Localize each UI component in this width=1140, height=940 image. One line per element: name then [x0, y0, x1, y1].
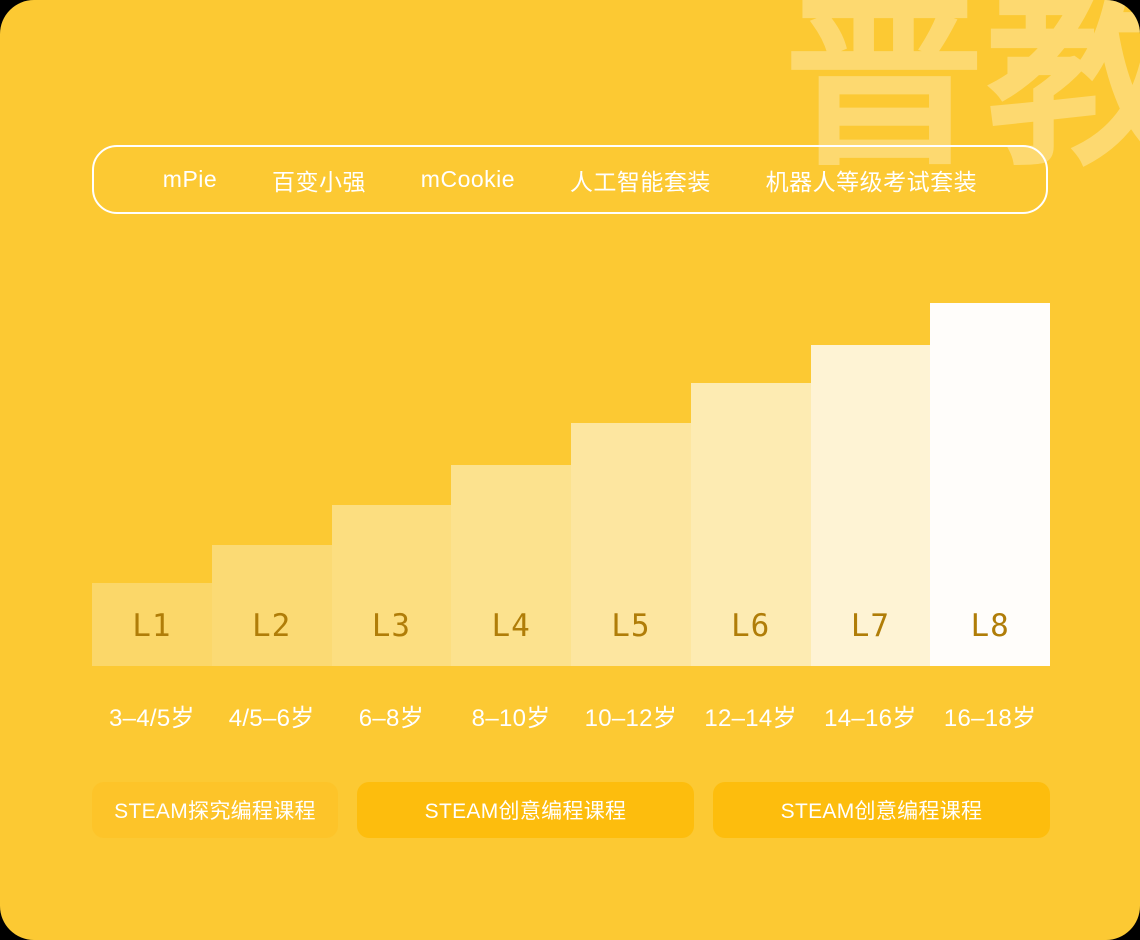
bar-l7[interactable]: L7 [811, 345, 931, 666]
bar-l3[interactable]: L3 [332, 505, 452, 666]
bar-label-l5: L5 [611, 608, 650, 666]
product-item-baibianxiaoqiang[interactable]: 百变小强 [272, 163, 366, 197]
product-item-ai-kit[interactable]: 人工智能套装 [570, 163, 711, 197]
age-label-l1: 3–4/5岁 [92, 698, 212, 733]
bar-label-l7: L7 [851, 608, 890, 666]
course-level-card: 普教 mPie 百变小强 mCookie 人工智能套装 机器人等级考试套装 L1… [0, 0, 1140, 940]
course-pill-creative-1[interactable]: STEAM创意编程课程 [357, 782, 694, 838]
course-pill-creative-2[interactable]: STEAM创意编程课程 [713, 782, 1050, 838]
age-label-l2: 4/5–6岁 [212, 698, 332, 733]
age-label-l7: 14–16岁 [811, 698, 931, 733]
bar-label-l2: L2 [252, 608, 291, 666]
bar-l1[interactable]: L1 [92, 583, 212, 666]
product-item-robot-exam-kit[interactable]: 机器人等级考试套装 [766, 163, 978, 197]
bar-l8[interactable]: L8 [930, 303, 1050, 666]
product-item-mcookie[interactable]: mCookie [421, 166, 515, 193]
age-label-l6: 12–14岁 [691, 698, 811, 733]
bar-l6[interactable]: L6 [691, 383, 811, 666]
bar-label-l8: L8 [970, 608, 1009, 666]
bar-l2[interactable]: L2 [212, 545, 332, 666]
bar-label-l3: L3 [372, 608, 411, 666]
bar-l5[interactable]: L5 [571, 423, 691, 666]
age-label-l5: 10–12岁 [571, 698, 691, 733]
bar-l4[interactable]: L4 [451, 465, 571, 666]
course-track-row: STEAM探究编程课程 STEAM创意编程课程 STEAM创意编程课程 [92, 782, 1050, 838]
bar-label-l4: L4 [491, 608, 530, 666]
level-bar-chart: L1 L2 L3 L4 L5 L6 L7 L8 [92, 290, 1050, 666]
course-pill-explore[interactable]: STEAM探究编程课程 [92, 782, 338, 838]
bar-label-l1: L1 [132, 608, 171, 666]
product-series-bar: mPie 百变小强 mCookie 人工智能套装 机器人等级考试套装 [92, 145, 1048, 214]
age-label-l8: 16–18岁 [930, 698, 1050, 733]
product-item-mpie[interactable]: mPie [163, 166, 217, 193]
age-label-l4: 8–10岁 [451, 698, 571, 733]
age-label-l3: 6–8岁 [332, 698, 452, 733]
bar-label-l6: L6 [731, 608, 770, 666]
age-range-row: 3–4/5岁 4/5–6岁 6–8岁 8–10岁 10–12岁 12–14岁 1… [92, 698, 1050, 733]
